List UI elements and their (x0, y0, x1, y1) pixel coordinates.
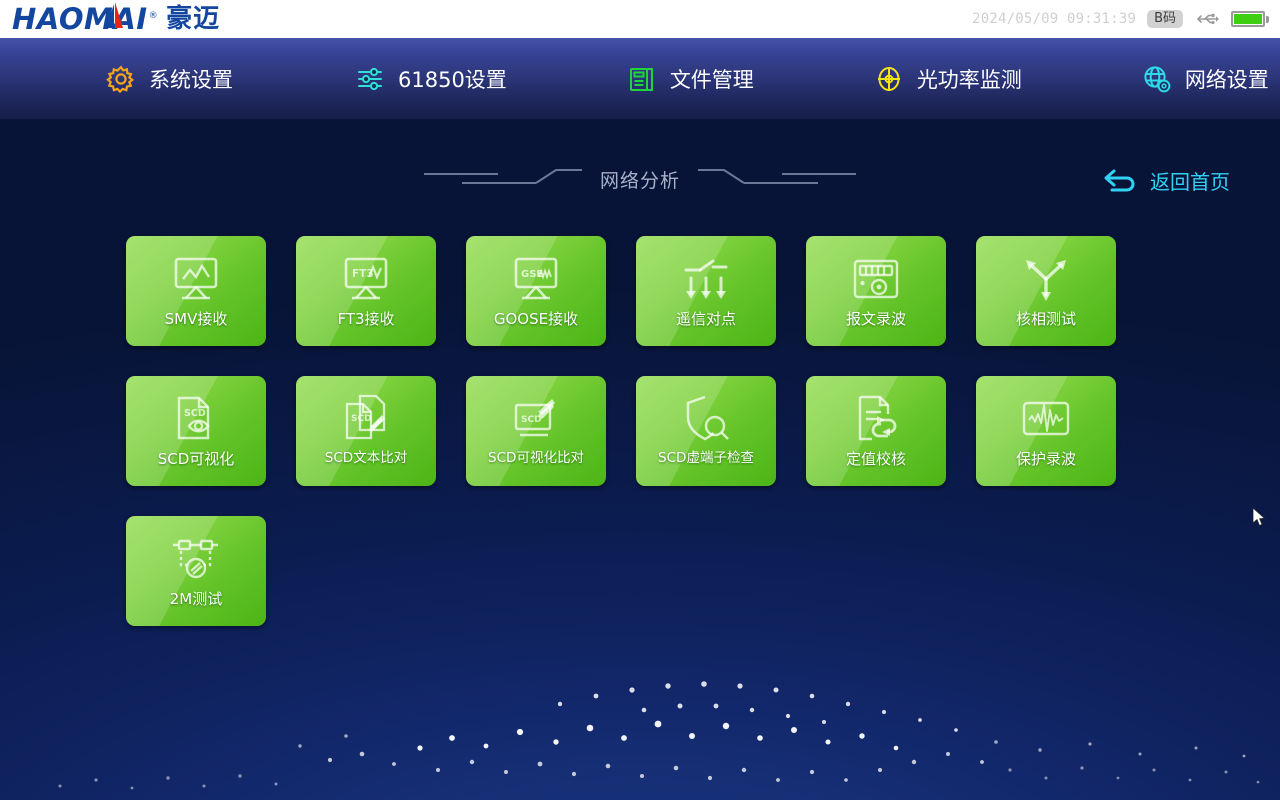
mouse-cursor (1253, 508, 1267, 528)
battery-icon (1231, 11, 1269, 27)
logo-latin-text: HAOMAI® (12, 5, 158, 34)
scd-compare-icon: SCD (338, 393, 394, 445)
recorder-device-icon (848, 253, 904, 305)
tile-label: 2M测试 (170, 592, 223, 607)
page-title: 网络分析 (600, 166, 680, 193)
svg-text:FT3: FT3 (352, 268, 374, 280)
tile-label: GOOSE接收 (494, 312, 578, 327)
shield-search-icon (678, 393, 734, 445)
content-area: 网络分析 返回首页 (0, 119, 1280, 800)
nav-label: 文件管理 (670, 64, 754, 94)
svg-text:SCD: SCD (521, 415, 542, 425)
datetime-display: 2024/05/09 09:31:39 (972, 11, 1136, 27)
scd-eye-icon: SCD (168, 393, 224, 445)
tile-smv-receive[interactable]: SMV接收 (126, 236, 266, 346)
tile-label: 定值校核 (846, 452, 906, 467)
nav-label: 系统设置 (149, 64, 233, 94)
tile-telesignal-check[interactable]: 遥信对点 (636, 236, 776, 346)
tile-label: SMV接收 (165, 312, 228, 327)
tile-label: SCD可视化 (158, 452, 235, 467)
file-manager-icon (627, 64, 657, 94)
tile-scd-visual-compare[interactable]: SCD SCD可视化比对 (466, 376, 606, 486)
nav-label: 61850设置 (398, 64, 507, 94)
function-tile-grid: SMV接收 FT3 FT3接收 (126, 236, 1126, 626)
tile-protection-recording[interactable]: 保护录波 (976, 376, 1116, 486)
status-badge-timecode[interactable]: B码 (1147, 10, 1183, 28)
back-to-home-label: 返回首页 (1150, 166, 1230, 195)
usb-icon (1194, 11, 1220, 27)
sail-logo-icon (104, 2, 124, 34)
ornament-left-icon (424, 164, 584, 194)
nav-item-61850-settings[interactable]: 61850设置 (349, 60, 513, 98)
svg-text:SCD: SCD (351, 414, 372, 424)
tile-label: FT3接收 (337, 312, 394, 327)
nav-item-file-management[interactable]: 文件管理 (621, 60, 760, 98)
app-header: HAOMAI® 豪迈 2024/05/09 09:31:39 B码 (0, 0, 1280, 38)
phase-check-icon (1018, 253, 1074, 305)
tile-message-recording[interactable]: 报文录波 (806, 236, 946, 346)
connector-icon (168, 533, 224, 585)
doc-sync-icon (848, 393, 904, 445)
main-nav: 系统设置 61850设置 文件管理 (0, 38, 1280, 119)
smv-monitor-icon (168, 253, 224, 305)
optical-power-icon (874, 64, 904, 94)
svg-text:SCD: SCD (184, 408, 206, 419)
svg-text:GSE: GSE (521, 269, 543, 280)
ft3-monitor-icon: FT3 (338, 253, 394, 305)
nav-item-optical-power[interactable]: 光功率监测 (868, 60, 1028, 98)
nav-label: 网络设置 (1185, 64, 1269, 94)
dot-wave-decoration (0, 620, 1280, 800)
contact-arrows-icon (678, 253, 734, 305)
tile-label: 遥信对点 (676, 312, 736, 327)
globe-gear-icon (1142, 64, 1172, 94)
tile-label: 报文录波 (846, 312, 906, 327)
status-bar: 2024/05/09 09:31:39 B码 (972, 10, 1280, 28)
nav-label: 光功率监测 (917, 64, 1022, 94)
ornament-right-icon (696, 164, 856, 194)
tile-label: 保护录波 (1016, 452, 1076, 467)
tile-scd-virtual-terminal-check[interactable]: SCD虚端子检查 (636, 376, 776, 486)
logo-chinese-text: 豪迈 (166, 6, 220, 33)
tile-label: SCD可视化比对 (488, 452, 584, 466)
sliders-icon (355, 64, 385, 94)
gear-icon (106, 64, 136, 94)
tile-setting-verification[interactable]: 定值校核 (806, 376, 946, 486)
tile-scd-visualize[interactable]: SCD SCD可视化 (126, 376, 266, 486)
nav-item-network-settings[interactable]: 网络设置 (1136, 60, 1275, 98)
tile-phase-check[interactable]: 核相测试 (976, 236, 1116, 346)
registered-mark: ® (149, 11, 159, 21)
waveform-screen-icon (1018, 393, 1074, 445)
section-header: 网络分析 (0, 164, 1280, 194)
logo-latin-tail: I (136, 2, 147, 36)
tile-2m-test[interactable]: 2M测试 (126, 516, 266, 626)
tile-goose-receive[interactable]: GSE GOOSE接收 (466, 236, 606, 346)
back-to-home-button[interactable]: 返回首页 (1103, 166, 1230, 195)
tile-label: SCD文本比对 (325, 452, 407, 466)
brand-logo: HAOMAI® 豪迈 (0, 5, 220, 34)
nav-item-system-settings[interactable]: 系统设置 (100, 60, 239, 98)
scd-visual-compare-icon: SCD (508, 393, 564, 445)
tile-label: 核相测试 (1016, 312, 1076, 327)
tile-ft3-receive[interactable]: FT3 FT3接收 (296, 236, 436, 346)
tile-label: SCD虚端子检查 (658, 452, 754, 466)
back-arrow-icon (1103, 167, 1139, 195)
goose-monitor-icon: GSE (508, 253, 564, 305)
tile-scd-text-compare[interactable]: SCD SCD文本比对 (296, 376, 436, 486)
